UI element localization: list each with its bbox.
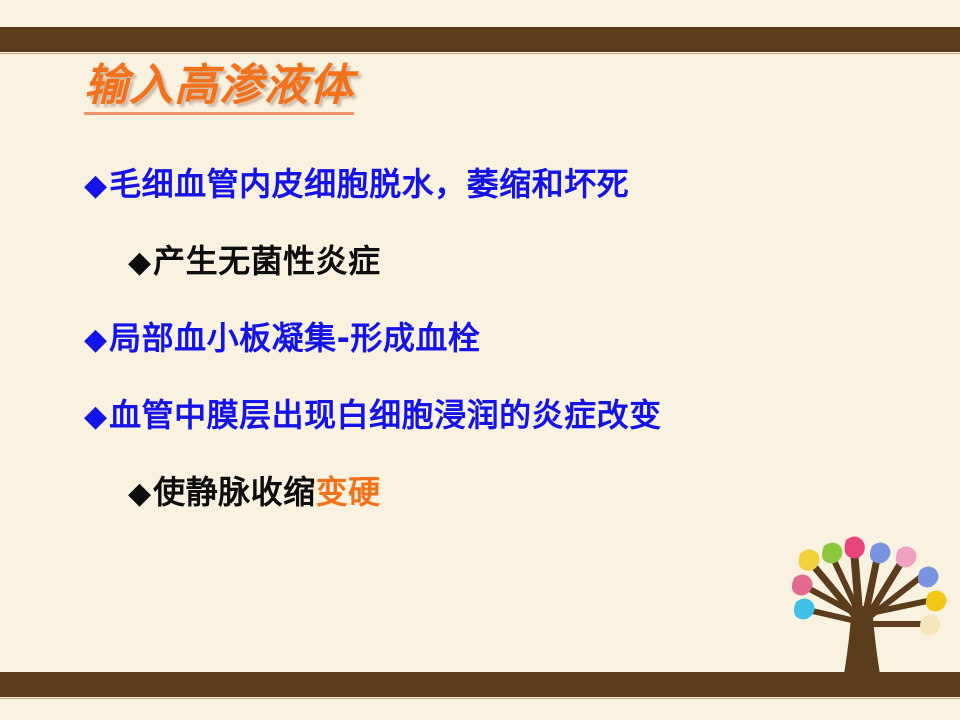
top-hairline bbox=[0, 53, 960, 54]
leaf-green bbox=[822, 543, 843, 564]
leaf-pink-left bbox=[792, 575, 813, 596]
leaf-lightpink bbox=[896, 547, 917, 568]
bullet-diamond-icon: ◆ bbox=[84, 402, 107, 432]
bullet-text: 产生无菌性炎症 bbox=[153, 245, 381, 277]
bullet-item: ◆毛细血管内皮细胞脱水，萎缩和坏死 bbox=[0, 168, 960, 201]
leaf-magenta bbox=[845, 537, 865, 559]
leaf-cyan-left bbox=[794, 599, 815, 620]
bullet-item: ◆血管中膜层出现白细胞浸润的炎症改变 bbox=[0, 399, 960, 432]
bullet-text: 使静脉收缩 bbox=[153, 476, 316, 508]
leaf-cream-right bbox=[920, 615, 941, 636]
bullet-text: 局部血小板凝集-形成血栓 bbox=[109, 322, 480, 354]
slide-canvas: 输入高渗液体 ◆毛细血管内皮细胞脱水，萎缩和坏死◆产生无菌性炎症◆局部血小板凝集… bbox=[0, 0, 960, 720]
bullet-item: ◆局部血小板凝集-形成血栓 bbox=[0, 322, 960, 355]
bullet-item: ◆产生无菌性炎症 bbox=[0, 245, 960, 278]
bullet-diamond-icon: ◆ bbox=[128, 479, 151, 509]
bullet-diamond-icon: ◆ bbox=[84, 171, 107, 201]
bottom-hairline bbox=[0, 698, 960, 699]
tree-icon bbox=[786, 528, 960, 678]
bullet-list: ◆毛细血管内皮细胞脱水，萎缩和坏死◆产生无菌性炎症◆局部血小板凝集-形成血栓◆血… bbox=[0, 168, 960, 553]
top-decorative-band bbox=[0, 27, 960, 52]
slide-title: 输入高渗液体 bbox=[84, 62, 354, 115]
title-area: 输入高渗液体 bbox=[84, 62, 784, 115]
bullet-text-highlight: 变硬 bbox=[316, 476, 381, 508]
leaf-blue bbox=[870, 543, 891, 564]
bullet-diamond-icon: ◆ bbox=[128, 248, 151, 278]
bullet-diamond-icon: ◆ bbox=[84, 325, 107, 355]
leaf-yellow-right bbox=[926, 591, 947, 612]
bullet-text: 毛细血管内皮细胞脱水，萎缩和坏死 bbox=[109, 168, 629, 200]
bullet-text: 血管中膜层出现白细胞浸润的炎症改变 bbox=[109, 399, 662, 431]
leaf-blue-right bbox=[918, 567, 939, 588]
bullet-item: ◆使静脉收缩变硬 bbox=[0, 476, 960, 509]
